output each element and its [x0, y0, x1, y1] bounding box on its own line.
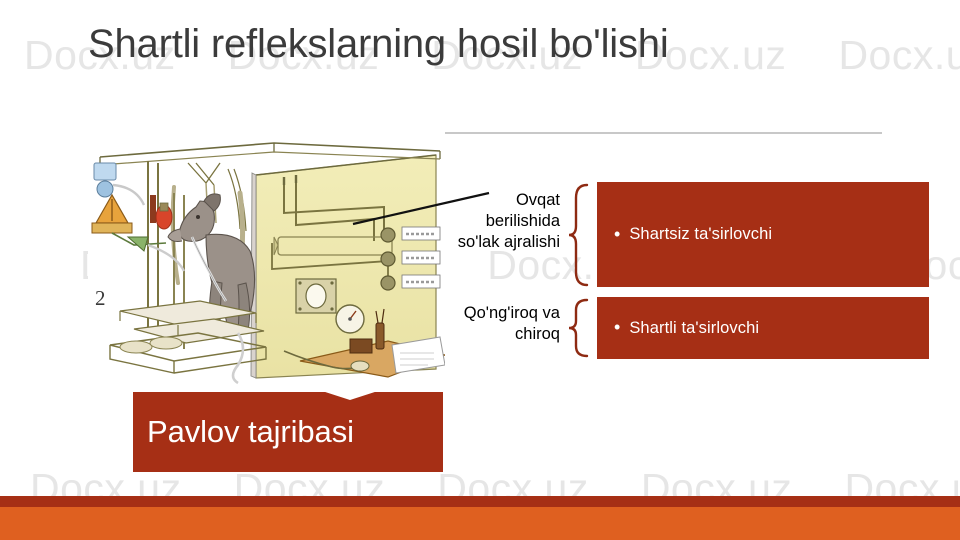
pavlov-diagram-svg: 2 [88, 133, 445, 389]
slide-canvas: Docx.uzDocx.uzDocx.uzDocx.uzDocx.uzDocx.… [0, 0, 960, 540]
label-conditioned-stimulus: Qo'ng'iroq va chiroq [440, 303, 560, 345]
curly-brace-icon [567, 297, 591, 359]
bullet-icon: • [614, 318, 620, 336]
page-title: Shartli reflekslarning hosil bo'lishi [88, 22, 878, 67]
callout-unconditioned-stimulus[interactable]: • Shartsiz ta'sirlovchi [597, 182, 929, 287]
illustration-caption-banner: Pavlov tajribasi [133, 392, 443, 472]
illustration-caption-text: Pavlov tajribasi [147, 414, 354, 450]
callout-text: Shartsiz ta'sirlovchi [629, 225, 772, 244]
callout-conditioned-stimulus[interactable]: • Shartli ta'sirlovchi [597, 297, 929, 359]
header-divider [445, 132, 882, 134]
bullet-icon: • [614, 225, 620, 243]
figure-number: 2 [95, 286, 106, 310]
pavlov-experiment-illustration: 2 [88, 133, 445, 389]
curly-brace-icon [567, 182, 591, 288]
label-unconditioned-stimulus: Ovqat berilishida so'lak ajralishi [452, 190, 560, 252]
callout-text: Shartli ta'sirlovchi [629, 319, 759, 338]
footer-accent-bar [0, 496, 960, 507]
footer-bar [0, 507, 960, 540]
